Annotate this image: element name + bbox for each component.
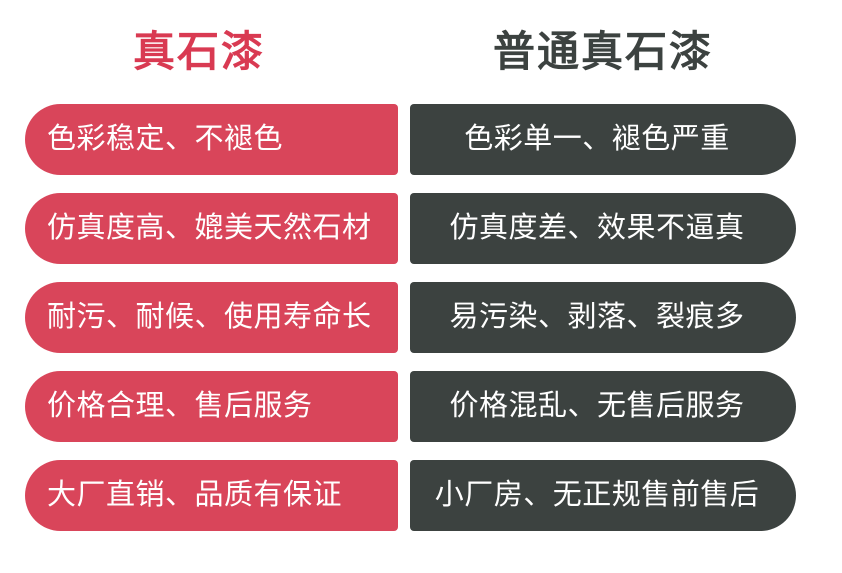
feature-pill-bad: 仿真度差、效果不逼真 [410, 193, 796, 264]
header-title-bad: 普通真石漆 [493, 31, 713, 73]
feature-pill-bad: 小厂房、无正规售前售后 [410, 460, 796, 531]
comparison-table: 真石漆 普通真石漆 色彩稳定、不褪色 色彩单一、褪色严重 仿真度高、媲美天然石材… [0, 0, 842, 573]
comparison-row: 色彩稳定、不褪色 色彩单一、褪色严重 [0, 104, 842, 193]
header-cell-good: 真石漆 [0, 0, 398, 104]
feature-text-good: 大厂直销、品质有保证 [47, 481, 342, 510]
header-cell-bad: 普通真石漆 [410, 0, 796, 104]
feature-pill-good: 仿真度高、媲美天然石材 [25, 193, 398, 264]
comparison-row: 耐污、耐候、使用寿命长 易污染、剥落、裂痕多 [0, 282, 842, 371]
feature-pill-good: 色彩稳定、不褪色 [25, 104, 398, 175]
comparison-row: 仿真度高、媲美天然石材 仿真度差、效果不逼真 [0, 193, 842, 282]
feature-text-good: 耐污、耐候、使用寿命长 [47, 303, 372, 332]
feature-text-bad: 易污染、剥落、裂痕多 [449, 303, 744, 332]
feature-text-bad: 小厂房、无正规售前售后 [435, 481, 760, 510]
feature-pill-bad: 易污染、剥落、裂痕多 [410, 282, 796, 353]
feature-text-bad: 色彩单一、褪色严重 [464, 125, 730, 154]
feature-pill-good: 价格合理、售后服务 [25, 371, 398, 442]
header-title-good: 真石漆 [133, 31, 265, 73]
comparison-row: 价格合理、售后服务 价格混乱、无售后服务 [0, 371, 842, 460]
feature-text-bad: 价格混乱、无售后服务 [449, 392, 744, 421]
comparison-row: 大厂直销、品质有保证 小厂房、无正规售前售后 [0, 460, 842, 549]
feature-text-good: 色彩稳定、不褪色 [47, 125, 283, 154]
feature-pill-bad: 色彩单一、褪色严重 [410, 104, 796, 175]
comparison-header-row: 真石漆 普通真石漆 [0, 0, 842, 104]
feature-text-good: 价格合理、售后服务 [47, 392, 313, 421]
feature-pill-bad: 价格混乱、无售后服务 [410, 371, 796, 442]
comparison-rows: 色彩稳定、不褪色 色彩单一、褪色严重 仿真度高、媲美天然石材 仿真度差、效果不逼… [0, 104, 842, 573]
feature-text-bad: 仿真度差、效果不逼真 [449, 214, 744, 243]
feature-pill-good: 大厂直销、品质有保证 [25, 460, 398, 531]
feature-text-good: 仿真度高、媲美天然石材 [47, 214, 372, 243]
feature-pill-good: 耐污、耐候、使用寿命长 [25, 282, 398, 353]
